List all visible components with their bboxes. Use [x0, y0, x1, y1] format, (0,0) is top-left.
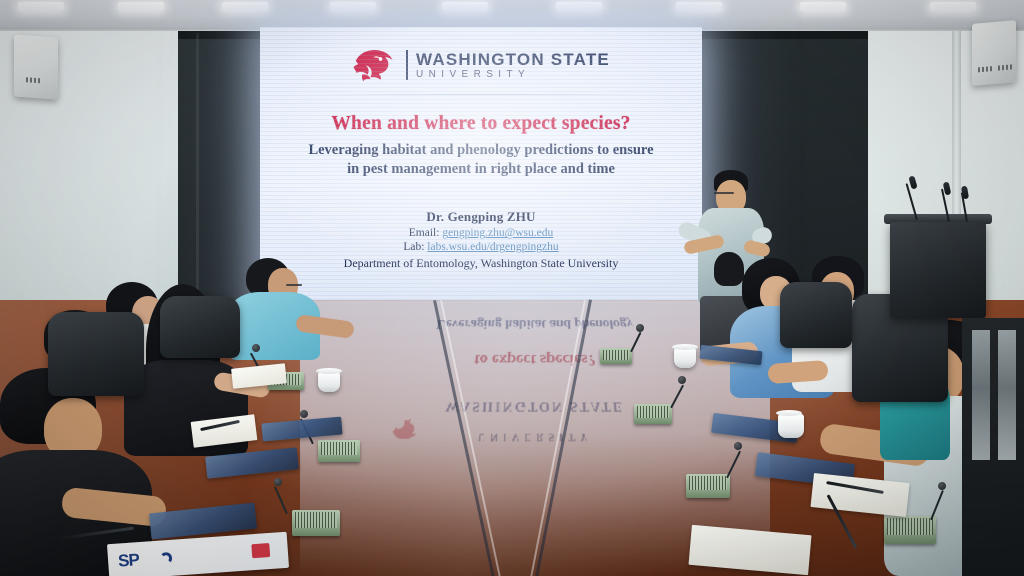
wsu-logo-lockup: WASHINGTON STATE UNIVERSITY	[276, 47, 686, 83]
reflection-org-top: WASHINGTON STATE	[300, 398, 770, 416]
table-microphone-base[interactable]	[600, 348, 632, 364]
screen-backing-panel-seam	[196, 33, 199, 329]
microphone-capsule-icon	[938, 482, 946, 490]
chair-right-2	[780, 282, 852, 348]
chair-left-2	[160, 296, 240, 358]
slide-subtitle-line-1: Leveraging habitat and phenology predict…	[276, 141, 686, 160]
microphone-capsule-icon	[252, 344, 260, 352]
microphone-capsule-icon	[734, 442, 742, 450]
reflection-cougar-logo-icon	[388, 417, 422, 442]
ceiling-light	[556, 2, 602, 11]
water-cup	[778, 414, 804, 438]
presenter-block: Dr. Gengping ZHU Email: gengping.zhu@wsu…	[276, 209, 686, 271]
table-microphone-base[interactable]	[884, 516, 936, 544]
reflection-org-bottom: UNIVERSITY	[300, 431, 770, 444]
logo-wordmark: WASHINGTON STATE UNIVERSITY	[416, 51, 610, 80]
presenter-lab-row: Lab: labs.wsu.edu/drgengpingzhu	[276, 241, 686, 253]
hair	[714, 252, 744, 286]
slide-subtitle-line-2: in pest management in right place and ti…	[276, 160, 686, 179]
speaker-vent-icon	[998, 64, 1012, 70]
table-microphone-base[interactable]	[292, 510, 340, 536]
ceiling-light	[222, 2, 268, 11]
presenter-email-row: Email: gengping.zhu@wsu.edu	[276, 227, 686, 239]
cup-lid	[316, 368, 342, 374]
microphone-capsule-icon	[636, 324, 644, 332]
wall-speaker-right	[972, 20, 1016, 86]
cup-lid	[672, 344, 698, 350]
ceiling-light	[330, 2, 376, 11]
wsu-cougar-head-logo	[352, 47, 398, 83]
ceiling-light	[118, 2, 164, 11]
logo-divider	[406, 50, 408, 80]
arm	[767, 360, 828, 384]
door-glass-panel	[972, 330, 990, 460]
microphone-capsule-icon	[678, 376, 686, 384]
lab-link[interactable]: labs.wsu.edu/drgengpingzhu	[427, 241, 558, 253]
microphone-grille-icon	[321, 442, 357, 455]
brochure-logo-mark-icon	[160, 552, 173, 565]
ceiling-light	[930, 2, 976, 11]
table-microphone-base[interactable]	[318, 440, 360, 462]
microphone-grille-icon	[689, 476, 727, 490]
speaker-vent-icon	[26, 77, 40, 83]
presenter-name: Dr. Gengping ZHU	[276, 209, 686, 225]
microphone-grille-icon	[603, 350, 629, 360]
lab-label: Lab:	[403, 241, 424, 253]
email-link[interactable]: gengping.zhu@wsu.edu	[442, 227, 553, 239]
presentation-slide: WASHINGTON STATE UNIVERSITY When and whe…	[260, 27, 702, 313]
microphone-grille-icon	[295, 512, 337, 528]
wall-speaker-left	[14, 34, 58, 99]
ceiling-light	[442, 2, 488, 11]
glasses-icon	[286, 284, 302, 286]
conference-room-scene: WASHINGTON STATE UNIVERSITY When and whe…	[0, 0, 1024, 576]
door-glass-panel	[998, 330, 1016, 460]
logo-org-bottom: UNIVERSITY	[416, 70, 610, 80]
slide-divider-rule	[321, 94, 641, 95]
presenter-department: Department of Entomology, Washington Sta…	[276, 256, 686, 271]
chair-left-1	[48, 312, 144, 396]
microphone-capsule-icon	[274, 478, 282, 486]
ceiling-light	[18, 2, 64, 11]
email-label: Email:	[409, 227, 440, 239]
table-microphone-base[interactable]	[686, 474, 730, 498]
microphone-grille-icon	[887, 518, 933, 535]
ceiling-light	[676, 2, 722, 11]
slide-title: When and where to expect species?	[276, 113, 686, 135]
water-cup	[318, 372, 340, 392]
microphone-grille-icon	[637, 406, 669, 418]
cup-lid	[776, 410, 802, 416]
speaker-vent-icon	[978, 66, 992, 72]
projection-screen: WASHINGTON STATE UNIVERSITY When and whe…	[260, 27, 702, 313]
glasses-icon	[714, 192, 734, 194]
ceiling-light	[800, 2, 846, 11]
av-equipment-cart	[890, 222, 986, 318]
table-microphone-base[interactable]	[634, 404, 672, 424]
brochure-accent-block	[251, 543, 270, 558]
water-cup	[674, 348, 696, 368]
logo-org-top: WASHINGTON STATE	[416, 51, 610, 68]
microphone-capsule-icon	[300, 410, 308, 418]
brochure-logo-text: SP	[117, 550, 139, 571]
